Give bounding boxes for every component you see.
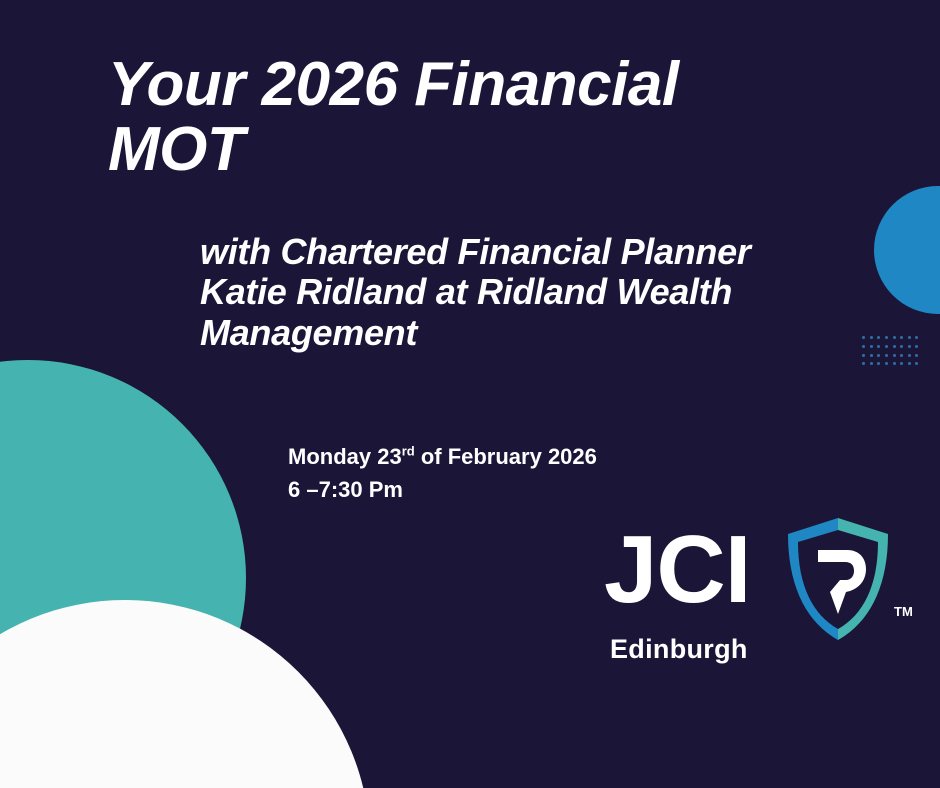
jci-wordmark: JCI xyxy=(604,522,750,618)
event-time-line: 6 –7:30 Pm xyxy=(288,473,597,506)
jci-city-label: Edinburgh xyxy=(610,634,748,665)
dot-grid-decoration xyxy=(862,336,922,370)
trademark-symbol: TM xyxy=(894,604,913,619)
event-date-ordinal: rd xyxy=(402,444,415,459)
event-date-prefix: Monday 23 xyxy=(288,444,402,469)
poster-headline: Your 2026 Financial MOT xyxy=(108,52,808,182)
white-circle-decoration xyxy=(0,600,370,788)
jci-shield-icon xyxy=(784,516,892,642)
poster-subheadline: with Chartered Financial Planner Katie R… xyxy=(200,232,760,353)
blue-circle-decoration xyxy=(874,186,940,314)
event-datetime: Monday 23rd of February 2026 6 –7:30 Pm xyxy=(288,440,597,506)
event-date-suffix: of February 2026 xyxy=(415,444,597,469)
poster-canvas: Your 2026 Financial MOT with Chartered F… xyxy=(0,0,940,788)
event-date-line: Monday 23rd of February 2026 xyxy=(288,440,597,473)
jci-logo: JCI TM Edinburgh xyxy=(604,516,916,676)
